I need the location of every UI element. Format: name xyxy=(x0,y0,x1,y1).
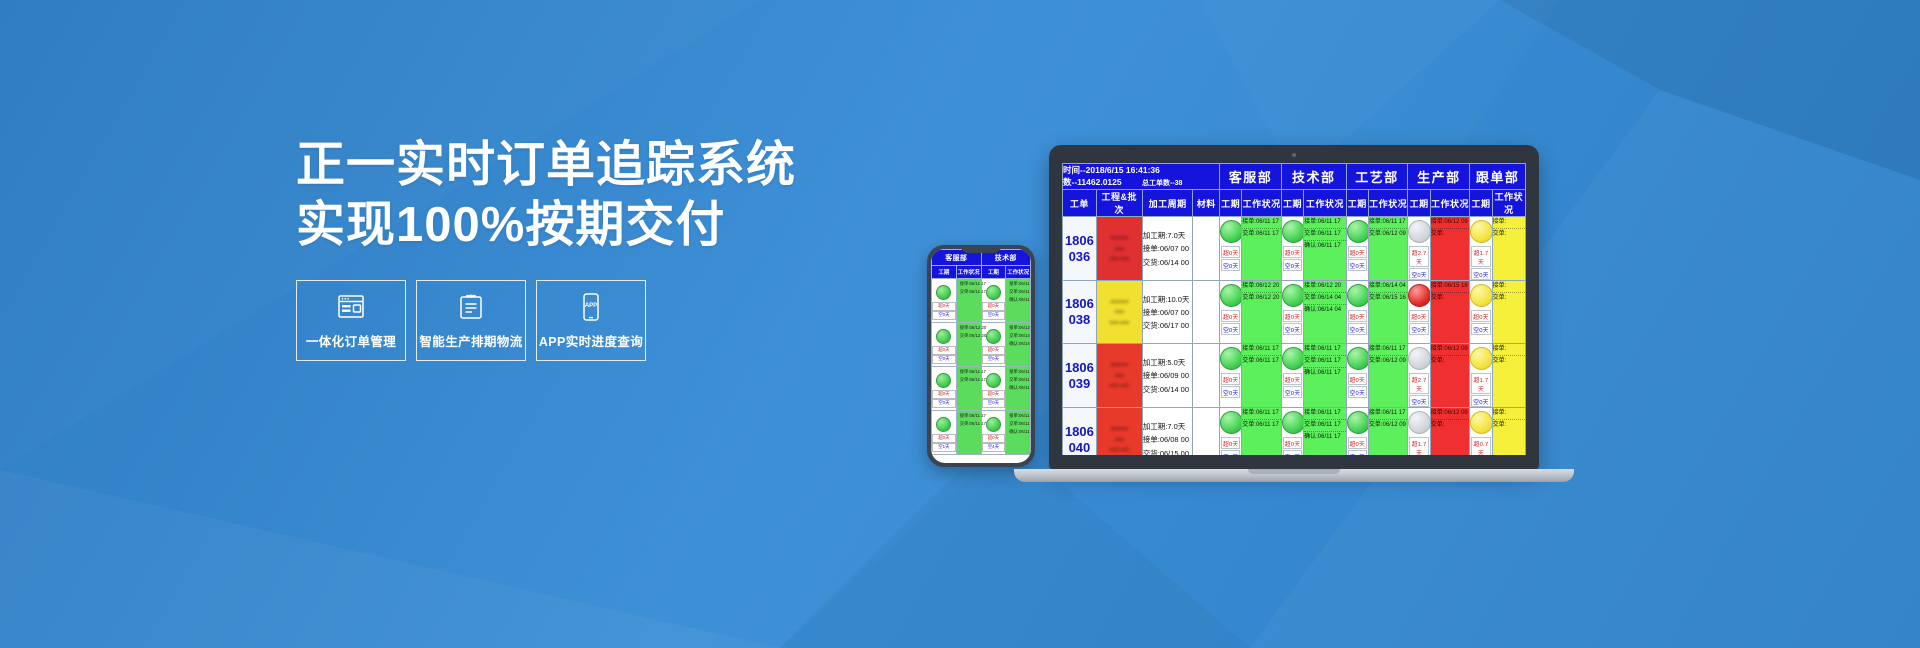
idle-badge: 空0天 xyxy=(932,311,956,320)
cell-work-status: 接单:06/11 17交单:06/11 17确认:06/11 17 xyxy=(1304,217,1347,281)
overdue-badge: 超0天 xyxy=(982,390,1006,399)
dashboard-header-row: 时间--2018/6/15 16:41:36 数--11462.0125 总工单… xyxy=(1063,164,1526,190)
status-line: 接单:06/15 16 xyxy=(1431,281,1470,293)
cell-duration: 超0天空0天 xyxy=(1220,344,1242,408)
cell-work-status: 接单:06/12 20交单:06/12 20 xyxy=(1242,281,1282,344)
cell-duration: 超0天空0天 xyxy=(1281,344,1303,408)
idle-badge: 空1天 xyxy=(1221,450,1240,455)
overdue-badge: 超1.7天 xyxy=(1409,437,1428,455)
overdue-badge: 超1.7天 xyxy=(1471,373,1490,394)
cell-processing-cycle: 加工期:5.0天接单:06/09 00交货:06/14 00 xyxy=(1142,344,1193,408)
dept-header-technical: 技术部 xyxy=(1281,164,1346,190)
idle-badge: 空4天 xyxy=(1283,450,1302,455)
project-batch-redacted: ■■■■■■■■■■■■ ■■■ xyxy=(1097,227,1142,271)
cell-duration: 超1.7天空0天 xyxy=(1470,217,1492,281)
idle-badge: 空0天 xyxy=(1283,259,1302,271)
cell-work-status: 接单:06/11 17交单:06/11 17确认:06/11 17 xyxy=(1304,344,1347,408)
idle-badge: 空0天 xyxy=(932,355,956,364)
status-indicator-yellow xyxy=(1470,411,1493,434)
cell-duration: 超2.7天空0天 xyxy=(1408,217,1430,281)
overdue-badge: 超2.7天 xyxy=(1409,373,1428,394)
status-line: 接单:06/11 17 xyxy=(958,368,980,376)
col-duration-production: 工期 xyxy=(1408,190,1430,217)
status-indicator-green xyxy=(1282,347,1305,370)
laptop-base xyxy=(1014,469,1574,482)
status-line: 交单:06/12 20 xyxy=(1242,293,1281,304)
idle-badge: 空0天 xyxy=(1409,395,1428,407)
status-line: 交单: xyxy=(1431,229,1470,240)
status-indicator-green xyxy=(1282,220,1305,243)
dashboard-count: 数--11462.0125 xyxy=(1063,177,1122,187)
cell-duration: 超0天空0天 xyxy=(1281,217,1303,281)
cell-work-status: 接单:交单: xyxy=(1492,217,1525,281)
col-status-production: 工作状况 xyxy=(1430,190,1470,217)
cell-work-status: 接单:06/12 09交单: xyxy=(1430,217,1470,281)
status-line: 确认:06/14 04 xyxy=(1304,305,1346,316)
cycle-line: 交货:06/14 00 xyxy=(1143,256,1193,269)
laptop-screen[interactable]: 时间--2018/6/15 16:41:36 数--11462.0125 总工单… xyxy=(1062,163,1526,455)
status-line: 接单:06/12 09 xyxy=(1431,217,1470,229)
dashboard-subheader-row: 工单 工程&批次 加工周期 材料 工期 工作状况 工期 工作状况 工期 工作状况… xyxy=(1063,190,1526,217)
phone-cell-duration-customer-service: 超0天空0天 xyxy=(932,323,957,367)
idle-badge: 空0天 xyxy=(982,399,1006,408)
status-line: 接单:06/12 20 xyxy=(1304,281,1346,293)
cycle-line: 接单:06/07 00 xyxy=(1143,306,1193,319)
cell-work-status: 接单:06/11 17交单:06/11 17 xyxy=(1242,217,1282,281)
cell-duration: 超0天空0天 xyxy=(1346,344,1368,408)
phone-col-duration-tech: 工期 xyxy=(981,266,1006,279)
status-line: 接单:06/11 17 xyxy=(958,412,980,420)
cell-material xyxy=(1193,408,1220,455)
work-order-prefix: 1806 xyxy=(1063,424,1096,440)
status-line: 交单:06/11 17 xyxy=(1304,229,1346,241)
cell-material xyxy=(1193,281,1220,344)
cell-work-order: 1806039 xyxy=(1063,344,1097,408)
phone-col-duration-cs: 工期 xyxy=(932,266,957,279)
status-line: 交单: xyxy=(1493,229,1525,240)
status-line: 交单: xyxy=(1493,356,1525,367)
idle-badge: 空0天 xyxy=(1348,259,1367,271)
status-line: 接单: xyxy=(1493,408,1525,420)
overdue-badge: 超0天 xyxy=(1348,373,1367,385)
project-batch-redacted: ■■■■■■■■■■■■ ■■■ xyxy=(1097,418,1142,455)
work-order-suffix: 040 xyxy=(1063,440,1096,455)
status-line: 接单:06/12 20 xyxy=(958,324,980,332)
cell-project-batch: ■■■■■■■■■■■■ ■■■ xyxy=(1096,344,1142,408)
overdue-badge: 超0天 xyxy=(1471,310,1490,322)
idle-badge: 空1天 xyxy=(1348,450,1367,455)
cycle-line: 加工期:7.0天 xyxy=(1143,420,1193,433)
cell-duration: 超0天空0天 xyxy=(1408,281,1430,344)
cell-work-status: 接单:06/11 17交单:06/12 09 xyxy=(1368,408,1408,455)
idle-badge: 空0天 xyxy=(1348,386,1367,398)
overdue-badge: 超0天 xyxy=(1221,373,1240,385)
status-line: 交单:06/11 17 xyxy=(958,376,980,384)
cell-work-status: 接单:06/14 04交单:06/15 16 xyxy=(1368,281,1408,344)
device-mockups: 客服部 技术部 工期 工作状况 工期 工作状况 超0天空0天接单:06/11 1… xyxy=(0,0,1920,648)
cell-work-status: 接单:交单: xyxy=(1492,281,1525,344)
phone-notch xyxy=(961,245,1001,253)
idle-badge: 空0天 xyxy=(1471,395,1490,407)
work-order-suffix: 038 xyxy=(1063,312,1096,328)
overdue-badge: 超0天 xyxy=(1221,246,1240,258)
status-indicator-gray xyxy=(1408,347,1431,370)
status-line: 交单:06/12 09 xyxy=(1369,229,1408,240)
phone-cell-work-status-customer-service: 接单:06/11 17交单:06/11 17 xyxy=(956,279,981,323)
overdue-badge: 超0天 xyxy=(1221,310,1240,322)
status-line: 接单:06/11 17 xyxy=(1369,344,1408,356)
status-line: 接单:06/12 09 xyxy=(1431,344,1470,356)
col-duration-followup: 工期 xyxy=(1470,190,1492,217)
col-duration-cs: 工期 xyxy=(1220,190,1242,217)
table-row[interactable]: 1806036■■■■■■■■■■■■ ■■■加工期:7.0天接单:06/07 … xyxy=(1063,217,1526,281)
status-line: 交单:06/11 17 xyxy=(1242,356,1281,367)
project-batch-redacted: ■■■■■■■■■■■■ ■■■ xyxy=(1097,291,1142,335)
overdue-badge: 超1.7天 xyxy=(1471,246,1490,267)
idle-badge: 空0天 xyxy=(1409,268,1428,280)
cell-work-status: 接单:06/11 17交单:06/11 17 xyxy=(1242,344,1282,408)
dept-header-production: 生产部 xyxy=(1408,164,1470,190)
status-line: 接单:06/11 17 xyxy=(1304,408,1346,420)
idle-badge: 空0天 xyxy=(1221,323,1240,335)
work-order-suffix: 039 xyxy=(1063,376,1096,392)
col-duration-tech: 工期 xyxy=(1281,190,1303,217)
cell-processing-cycle: 加工期:7.0天接单:06/08 00交货:06/15 00 xyxy=(1142,408,1193,455)
idle-badge: 空0天 xyxy=(1221,386,1240,398)
cycle-line: 加工期:10.0天 xyxy=(1143,293,1193,306)
status-line: 交单:06/11 17 xyxy=(958,420,980,428)
cell-work-status: 接单:06/11 17交单:06/11 17确认:06/11 17 xyxy=(1304,408,1347,455)
status-indicator-green xyxy=(1347,411,1370,434)
dashboard-table-body: 1806036■■■■■■■■■■■■ ■■■加工期:7.0天接单:06/07 … xyxy=(1063,217,1526,455)
status-indicator-green xyxy=(1220,284,1243,307)
col-status-followup: 工作状况 xyxy=(1492,190,1525,217)
cell-duration: 超0.7天空1天 xyxy=(1470,408,1492,455)
laptop-lid: 时间--2018/6/15 16:41:36 数--11462.0125 总工单… xyxy=(1049,145,1539,470)
cycle-line: 交货:06/17 00 xyxy=(1143,319,1193,332)
status-line: 交单: xyxy=(1431,356,1470,367)
cell-duration: 超0天空0天 xyxy=(1281,281,1303,344)
col-duration-process: 工期 xyxy=(1346,190,1368,217)
status-line: 接单:06/11 17 xyxy=(1242,344,1281,356)
status-line: 交单:06/11 17 xyxy=(1304,420,1346,432)
overdue-badge: 超0天 xyxy=(1283,373,1302,385)
col-project-batch: 工程&批次 xyxy=(1096,190,1142,217)
cell-duration: 超0天空4天 xyxy=(1281,408,1303,455)
cell-duration: 超0天空0天 xyxy=(1220,217,1242,281)
laptop-mockup: 时间--2018/6/15 16:41:36 数--11462.0125 总工单… xyxy=(1014,145,1574,482)
col-work-order: 工单 xyxy=(1063,190,1097,217)
phone-cell-duration-customer-service: 超0天空0天 xyxy=(932,279,957,323)
cell-project-batch: ■■■■■■■■■■■■ ■■■ xyxy=(1096,217,1142,281)
status-line: 交单:06/11 17 xyxy=(958,288,980,296)
dept-header-process: 工艺部 xyxy=(1346,164,1408,190)
idle-badge: 空0天 xyxy=(1283,323,1302,335)
status-indicator-green xyxy=(986,329,1001,344)
cell-duration: 超0天空0天 xyxy=(1346,217,1368,281)
phone-col-status-cs: 工作状况 xyxy=(956,266,981,279)
project-batch-redacted: ■■■■■■■■■■■■ ■■■ xyxy=(1097,354,1142,398)
status-indicator-green xyxy=(936,373,951,388)
status-indicator-green xyxy=(1282,284,1305,307)
status-line: 接单:06/12 09 xyxy=(1431,408,1470,420)
status-line: 交单:06/12 20 xyxy=(958,332,980,340)
status-line: 交单:06/11 17 xyxy=(1242,420,1281,431)
cell-duration: 超0天空0天 xyxy=(1470,281,1492,344)
cell-duration: 超0天空1天 xyxy=(1220,408,1242,455)
dept-header-customer-service: 客服部 xyxy=(1220,164,1282,190)
order-tracking-table: 时间--2018/6/15 16:41:36 数--11462.0125 总工单… xyxy=(1062,163,1526,455)
status-line: 接单:06/11 17 xyxy=(1304,344,1346,356)
status-line: 交单:06/15 16 xyxy=(1369,293,1408,304)
status-line: 接单:06/11 17 xyxy=(1242,408,1281,420)
status-indicator-green xyxy=(1282,411,1305,434)
cell-duration: 超1.7天空0天 xyxy=(1470,344,1492,408)
status-indicator-green xyxy=(1347,347,1370,370)
idle-badge: 空0天 xyxy=(1471,323,1490,335)
cell-duration: 超0天空1天 xyxy=(1346,408,1368,455)
overdue-badge: 超0天 xyxy=(982,434,1006,443)
dept-header-followup: 跟单部 xyxy=(1470,164,1526,190)
status-line: 接单:06/11 17 xyxy=(1369,408,1408,420)
idle-badge: 空0天 xyxy=(932,399,956,408)
overdue-badge: 超0天 xyxy=(1348,310,1367,322)
overdue-badge: 超2.7天 xyxy=(1409,246,1428,267)
status-line: 接单:06/11 17 xyxy=(1369,217,1408,229)
status-indicator-green xyxy=(936,285,951,300)
overdue-badge: 超0天 xyxy=(1283,437,1302,449)
cell-duration: 超0天空0天 xyxy=(1346,281,1368,344)
cell-material xyxy=(1193,217,1220,281)
idle-badge: 空1天 xyxy=(932,443,956,452)
cell-work-status: 接单:交单: xyxy=(1492,344,1525,408)
status-indicator-green xyxy=(986,373,1001,388)
cell-work-status: 接单:06/12 20交单:06/14 04确认:06/14 04 xyxy=(1304,281,1347,344)
idle-badge: 空0天 xyxy=(982,355,1006,364)
idle-badge: 空0天 xyxy=(982,311,1006,320)
phone-cell-duration-customer-service: 超0天空1天 xyxy=(932,411,957,455)
overdue-badge: 超0天 xyxy=(1348,437,1367,449)
status-line: 交单:06/11 17 xyxy=(1304,356,1346,368)
cell-work-status: 接单:06/11 17交单:06/12 09 xyxy=(1368,344,1408,408)
overdue-badge: 超0天 xyxy=(1283,246,1302,258)
col-status-process: 工作状况 xyxy=(1368,190,1408,217)
status-line: 接单:06/14 04 xyxy=(1369,281,1408,293)
status-line: 接单:06/11 17 xyxy=(1242,217,1281,229)
status-line: 接单: xyxy=(1493,281,1525,293)
status-indicator-red xyxy=(1408,284,1431,307)
status-indicator-yellow xyxy=(1470,220,1493,243)
overdue-badge: 超0天 xyxy=(932,434,956,443)
table-row[interactable]: 1806039■■■■■■■■■■■■ ■■■加工期:5.0天接单:06/09 … xyxy=(1063,344,1526,408)
overdue-badge: 超0天 xyxy=(932,346,956,355)
status-line: 确认:06/11 17 xyxy=(1304,368,1346,379)
work-order-suffix: 036 xyxy=(1063,249,1096,265)
status-indicator-green xyxy=(1347,284,1370,307)
cell-work-status: 接单:06/12 09交单: xyxy=(1430,408,1470,455)
cycle-line: 接单:06/07 00 xyxy=(1143,242,1193,255)
status-indicator-green xyxy=(1220,220,1243,243)
cell-work-order: 1806040 xyxy=(1063,408,1097,455)
idle-badge: 空0天 xyxy=(1283,386,1302,398)
status-indicator-green xyxy=(1347,220,1370,243)
cell-work-status: 接单:06/15 16交单: xyxy=(1430,281,1470,344)
cell-work-order: 1806036 xyxy=(1063,217,1097,281)
cell-duration: 超0天空0天 xyxy=(1220,281,1242,344)
webcam-icon xyxy=(1292,153,1296,157)
dashboard-total-orders: 总工单数--38 xyxy=(1142,180,1182,187)
status-line: 交单:06/12 09 xyxy=(1369,356,1408,367)
cell-duration: 超1.7天空5天 xyxy=(1408,408,1430,455)
cell-processing-cycle: 加工期:10.0天接单:06/07 00交货:06/17 00 xyxy=(1142,281,1193,344)
status-indicator-green xyxy=(936,417,951,432)
cell-work-status: 接单:06/11 17交单:06/12 09 xyxy=(1368,217,1408,281)
cell-duration: 超2.7天空0天 xyxy=(1408,344,1430,408)
status-line: 接单:06/11 17 xyxy=(1304,217,1346,229)
cell-work-status: 接单:06/11 17交单:06/11 17 xyxy=(1242,408,1282,455)
phone-cell-work-status-customer-service: 接单:06/11 17交单:06/11 17 xyxy=(956,367,981,411)
status-line: 交单: xyxy=(1493,293,1525,304)
status-line: 交单:06/11 17 xyxy=(1242,229,1281,240)
cycle-line: 交货:06/15 00 xyxy=(1143,447,1193,455)
status-line: 交单:06/12 09 xyxy=(1369,420,1408,431)
status-indicator-gray xyxy=(1408,411,1431,434)
status-indicator-green xyxy=(936,329,951,344)
overdue-badge: 超0天 xyxy=(1348,246,1367,258)
cycle-line: 加工期:5.0天 xyxy=(1143,356,1193,369)
status-line: 交单:06/14 04 xyxy=(1304,293,1346,305)
idle-badge: 空0天 xyxy=(1409,323,1428,335)
table-row[interactable]: 1806038■■■■■■■■■■■■ ■■■加工期:10.0天接单:06/07… xyxy=(1063,281,1526,344)
cell-work-status: 接单:06/12 09交单: xyxy=(1430,344,1470,408)
status-line: 交单: xyxy=(1493,420,1525,431)
status-indicator-yellow xyxy=(1470,347,1493,370)
status-line: 确认:06/11 17 xyxy=(1304,241,1346,252)
col-status-tech: 工作状况 xyxy=(1304,190,1347,217)
status-indicator-green xyxy=(1220,411,1243,434)
overdue-badge: 超0天 xyxy=(1409,310,1428,322)
overdue-badge: 超0天 xyxy=(1221,437,1240,449)
status-line: 确认:06/11 17 xyxy=(1304,432,1346,443)
cell-work-order: 1806038 xyxy=(1063,281,1097,344)
overdue-badge: 超0天 xyxy=(1283,310,1302,322)
status-line: 接单: xyxy=(1493,344,1525,356)
status-line: 接单:06/11 17 xyxy=(958,280,980,288)
overdue-badge: 超0天 xyxy=(982,346,1006,355)
cell-work-status: 接单:交单: xyxy=(1492,408,1525,455)
status-line: 接单: xyxy=(1493,217,1525,229)
col-status-cs: 工作状况 xyxy=(1242,190,1282,217)
overdue-badge: 超0天 xyxy=(932,302,956,311)
cell-material xyxy=(1193,344,1220,408)
cell-project-batch: ■■■■■■■■■■■■ ■■■ xyxy=(1096,281,1142,344)
status-indicator-yellow xyxy=(1470,284,1493,307)
idle-badge: 空0天 xyxy=(1348,323,1367,335)
table-row[interactable]: 1806040■■■■■■■■■■■■ ■■■加工期:7.0天接单:06/08 … xyxy=(1063,408,1526,455)
overdue-badge: 超0天 xyxy=(982,302,1006,311)
cell-project-batch: ■■■■■■■■■■■■ ■■■ xyxy=(1096,408,1142,455)
idle-badge: 空0天 xyxy=(1221,259,1240,271)
idle-badge: 空0天 xyxy=(1471,268,1490,280)
work-order-prefix: 1806 xyxy=(1063,360,1096,376)
cell-processing-cycle: 加工期:7.0天接单:06/07 00交货:06/14 00 xyxy=(1142,217,1193,281)
col-processing-cycle: 加工周期 xyxy=(1142,190,1193,217)
col-material: 材料 xyxy=(1193,190,1220,217)
work-order-prefix: 1806 xyxy=(1063,233,1096,249)
idle-badge: 空4天 xyxy=(982,443,1006,452)
phone-cell-duration-customer-service: 超0天空0天 xyxy=(932,367,957,411)
phone-cell-work-status-customer-service: 接单:06/11 17交单:06/11 17 xyxy=(956,411,981,455)
cycle-line: 交货:06/14 00 xyxy=(1143,383,1193,396)
status-indicator-green xyxy=(986,417,1001,432)
phone-cell-work-status-customer-service: 接单:06/12 20交单:06/12 20 xyxy=(956,323,981,367)
status-line: 交单: xyxy=(1431,420,1470,431)
overdue-badge: 超0天 xyxy=(932,390,956,399)
status-indicator-green xyxy=(1220,347,1243,370)
status-indicator-gray xyxy=(1408,220,1431,243)
dashboard-info-header: 时间--2018/6/15 16:41:36 数--11462.0125 总工单… xyxy=(1063,164,1220,190)
work-order-prefix: 1806 xyxy=(1063,296,1096,312)
dashboard-time: 时间--2018/6/15 16:41:36 xyxy=(1063,164,1219,176)
cycle-line: 接单:06/08 00 xyxy=(1143,433,1193,446)
status-line: 交单: xyxy=(1431,293,1470,304)
status-line: 接单:06/12 20 xyxy=(1242,281,1281,293)
status-indicator-green xyxy=(986,285,1001,300)
overdue-badge: 超0.7天 xyxy=(1471,437,1490,455)
cycle-line: 加工期:7.0天 xyxy=(1143,229,1193,242)
cycle-line: 接单:06/09 00 xyxy=(1143,369,1193,382)
